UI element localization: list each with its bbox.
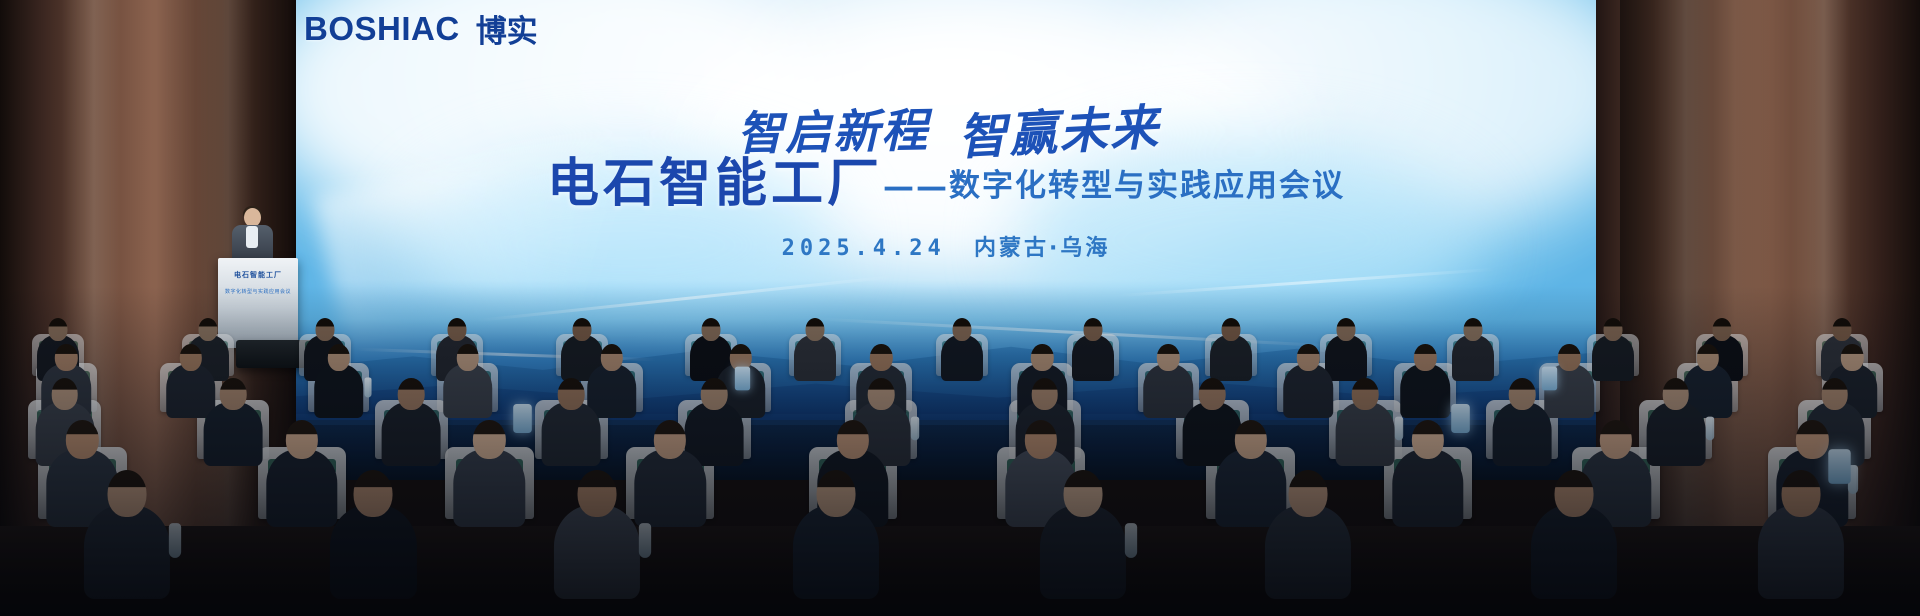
audience-head (1696, 344, 1718, 371)
audience-head (1821, 378, 1848, 410)
audience-head (1796, 420, 1828, 459)
audience-head (1234, 420, 1266, 459)
audience-head (1084, 318, 1103, 341)
audience-head (1297, 344, 1319, 371)
audience-member (442, 344, 494, 427)
audience-member (82, 470, 172, 614)
audience-member (1334, 378, 1396, 476)
audience-head (286, 420, 318, 459)
audience-head (1032, 378, 1059, 410)
audience-shoulders (1392, 449, 1463, 527)
audience-head (398, 378, 425, 410)
audience-head (1414, 344, 1436, 371)
audience-shoulders (793, 505, 879, 599)
brand-logo: B BOSHIAC 博实 (296, 6, 538, 51)
audience-head (49, 318, 68, 341)
audience-head (577, 470, 616, 517)
audience-head (448, 318, 467, 341)
title-subtitle: 数字化转型与实践应用会议 (949, 160, 1345, 210)
audience-shoulders (314, 364, 364, 418)
audience-head (52, 378, 79, 410)
audience-head (107, 470, 146, 517)
audience-member (552, 470, 642, 614)
audience-seating (0, 286, 1920, 616)
audience-shoulders (634, 449, 705, 527)
event-location: 内蒙古·乌海 (974, 236, 1110, 261)
audience-member (380, 378, 442, 476)
audience-head (1509, 378, 1536, 410)
audience-head (1464, 318, 1483, 341)
audience-head (1031, 344, 1053, 371)
audience-head (654, 420, 686, 459)
audience-head (1025, 420, 1057, 459)
audience-head (1832, 318, 1851, 341)
audience-head (702, 318, 721, 341)
raised-phone (1828, 449, 1851, 484)
audience-shoulders (542, 402, 601, 466)
brand-name-chinese: 博实 (476, 6, 538, 51)
podium-banner-line-1: 电石智能工厂 (224, 268, 292, 283)
water-bottle (364, 378, 371, 398)
audience-shoulders (941, 335, 983, 381)
speaker-shirt (246, 226, 258, 248)
audience-head (1841, 344, 1863, 371)
conference-photo: B BOSHIAC 博实 智启新程智赢未来 电石智能工厂 —— 数字化转型与实践… (0, 0, 1920, 616)
audience-head (354, 470, 393, 517)
audience-head (55, 344, 77, 371)
audience-member (1591, 318, 1635, 388)
audience-shoulders (1531, 505, 1617, 599)
audience-head (1558, 344, 1580, 371)
audience-shoulders (1283, 364, 1333, 418)
audience-head (573, 318, 592, 341)
audience-head (66, 420, 98, 459)
audience-shoulders (204, 402, 263, 466)
audience-shoulders (1336, 402, 1395, 466)
audience-member (540, 378, 602, 476)
audience-shoulders (1265, 505, 1351, 599)
audience-member (452, 420, 527, 539)
water-bottle (169, 523, 181, 558)
audience-shoulders (1072, 335, 1114, 381)
audience-shoulders (84, 505, 170, 599)
water-bottle (1125, 523, 1137, 558)
audience-head (1221, 318, 1240, 341)
audience-head (199, 318, 218, 341)
audience-head (1603, 318, 1622, 341)
raised-phone (1542, 366, 1557, 390)
raised-phone (735, 366, 750, 390)
audience-head (328, 344, 350, 371)
audience-shoulders (1452, 335, 1494, 381)
audience-shoulders (1592, 335, 1634, 381)
audience-head (1600, 420, 1632, 459)
audience-member (1645, 378, 1707, 476)
audience-head (817, 470, 856, 517)
brand-name-english: BOSHIAC (304, 10, 460, 48)
audience-head (1199, 378, 1226, 410)
audience-member (1451, 318, 1495, 388)
audience-member (791, 470, 881, 614)
audience-shoulders (1210, 335, 1252, 381)
audience-head (316, 318, 335, 341)
slogan-calligraphy: 智启新程智赢未来 (296, 96, 1596, 162)
raised-phone (513, 404, 532, 433)
audience-shoulders (266, 449, 337, 527)
audience-head (473, 420, 505, 459)
audience-head (1336, 318, 1355, 341)
audience-head (1412, 420, 1444, 459)
audience-shoulders (1040, 505, 1126, 599)
audience-member (1529, 470, 1619, 614)
audience-member (1756, 470, 1846, 614)
title-main: 电石智能工厂 (547, 158, 883, 210)
audience-shoulders (454, 449, 525, 527)
title-dash: —— (883, 169, 949, 210)
audience-head (868, 378, 895, 410)
audience-shoulders (1646, 402, 1705, 466)
audience-head (456, 344, 478, 371)
audience-head (601, 344, 623, 371)
audience-member (328, 470, 418, 614)
event-date: 2025.4.24 (782, 236, 946, 261)
audience-member (1038, 470, 1128, 614)
audience-shoulders (443, 364, 493, 418)
audience-head (953, 318, 972, 341)
slogan-phrase-2: 智赢未来 (957, 89, 1162, 169)
audience-head (1063, 470, 1102, 517)
audience-head (870, 344, 892, 371)
audience-member (1399, 344, 1451, 427)
audience-head (1352, 378, 1379, 410)
audience-member (633, 420, 708, 539)
audience-shoulders (330, 505, 416, 599)
audience-head (220, 378, 247, 410)
audience-shoulders (1758, 505, 1844, 599)
audience-head (1289, 470, 1328, 517)
audience-head (1712, 318, 1731, 341)
audience-member (313, 344, 365, 427)
audience-head (558, 378, 585, 410)
audience-shoulders (794, 335, 836, 381)
conference-title: 电石智能工厂 —— 数字化转型与实践应用会议 (296, 158, 1596, 210)
audience-head (1663, 378, 1690, 410)
audience-head (701, 378, 728, 410)
audience-member (1390, 420, 1465, 539)
audience-shoulders (1400, 364, 1450, 418)
water-bottle (1705, 417, 1713, 441)
audience-member (940, 318, 984, 388)
audience-member (202, 378, 264, 476)
event-date-line: 2025.4.24 内蒙古·乌海 (296, 230, 1596, 262)
audience-head (837, 420, 869, 459)
audience-head (1555, 470, 1594, 517)
water-bottle (639, 523, 651, 558)
audience-shoulders (1493, 402, 1552, 466)
audience-member (1263, 470, 1353, 614)
raised-phone (1451, 404, 1470, 433)
audience-member (1282, 344, 1334, 427)
audience-head (806, 318, 825, 341)
audience-shoulders (382, 402, 441, 466)
water-bottle (911, 417, 919, 441)
audience-member (1071, 318, 1115, 388)
audience-member (793, 318, 837, 388)
audience-member (1491, 378, 1553, 476)
audience-head (1157, 344, 1179, 371)
audience-shoulders (554, 505, 640, 599)
audience-head (180, 344, 202, 371)
audience-head (1782, 470, 1821, 517)
